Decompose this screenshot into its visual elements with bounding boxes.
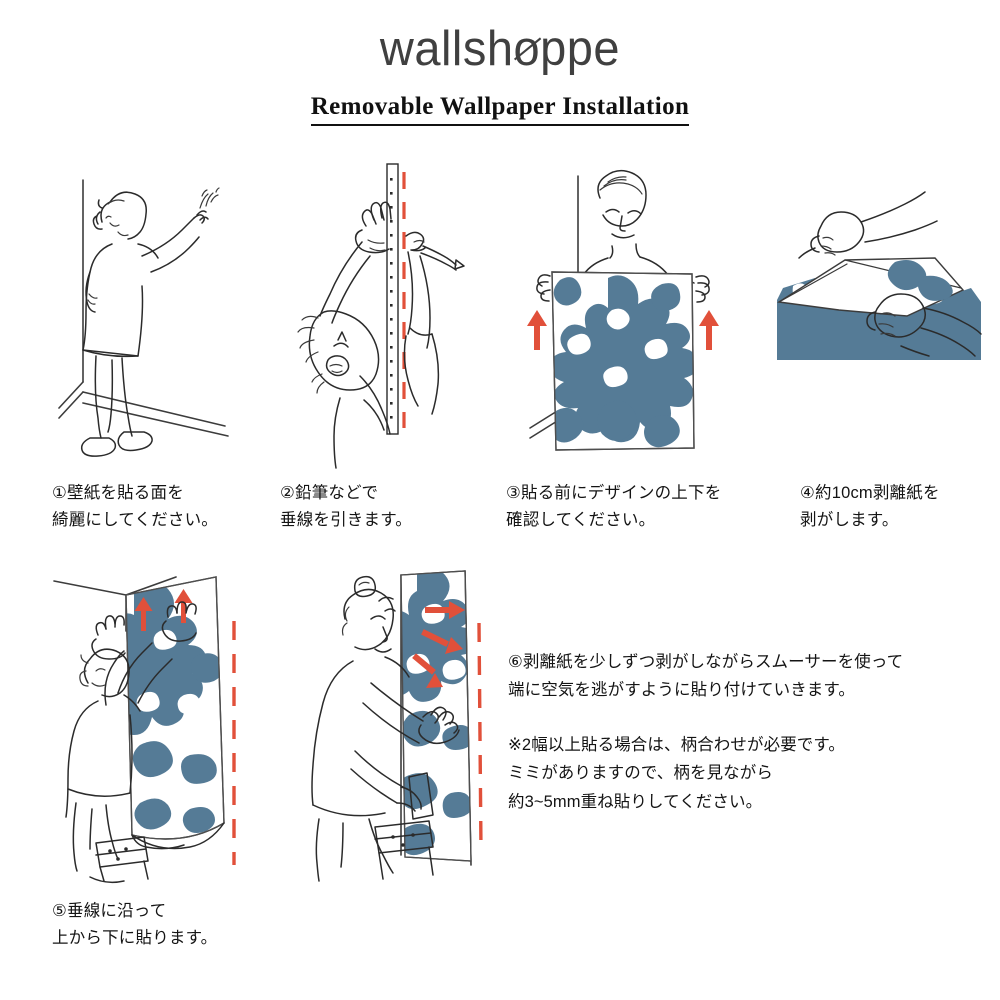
direction-arrow-up-left	[527, 310, 547, 350]
step-1-caption: ①壁紙を貼る面を 綺麗にしてください。	[52, 480, 272, 533]
person-holding-wallpaper-icon	[500, 160, 735, 475]
step-4-caption: ④約10cm剥離紙を 剥がします。	[800, 480, 1000, 533]
brand-slashed-o-icon: o	[514, 23, 541, 72]
brand-text-before: wallsh	[380, 20, 514, 76]
step-6-illustration	[293, 565, 498, 885]
direction-arrow-up-right	[699, 310, 719, 350]
step-2-illustration	[278, 160, 478, 475]
brand-header: wallshoppe	[0, 0, 1000, 71]
person-drawing-plumb-line-icon	[278, 160, 478, 475]
step-3-illustration	[500, 160, 735, 475]
page-title-row: Removable Wallpaper Installation	[0, 93, 1000, 126]
wallpaper-pattern	[548, 275, 698, 447]
step-6-caption: ⑥剥離紙を少しずつ剥がしながらスムーサーを使って 端に空気を逃がすように貼り付け…	[508, 648, 978, 705]
person-on-stool-applying-wallpaper-icon	[48, 565, 278, 885]
step-6-text-block: ⑥剥離紙を少しずつ剥がしながらスムーサーを使って 端に空気を逃がすように貼り付け…	[508, 648, 978, 816]
step-5-caption: ⑤垂線に沿って 上から下に貼ります。	[52, 898, 312, 951]
person-wiping-wall-icon	[50, 160, 270, 475]
step-3-caption: ③貼る前にデザインの上下を 確認してください。	[506, 480, 796, 533]
person-smoothing-wallpaper-icon	[293, 565, 498, 885]
hands-peeling-release-paper-icon	[775, 160, 1000, 475]
step-2-caption: ②鉛筆などで 垂線を引きます。	[280, 480, 490, 533]
step-5-illustration	[48, 565, 278, 885]
plumb-line-dashed	[479, 623, 481, 851]
brand-text-after: ppe	[540, 20, 620, 76]
steps-row-one	[0, 160, 1000, 475]
wallshoppe-logo: wallshoppe	[380, 23, 620, 72]
step-1-illustration	[50, 160, 270, 475]
step-4-illustration	[775, 160, 1000, 475]
page-title: Removable Wallpaper Installation	[311, 93, 690, 126]
pattern-matching-note: ※2幅以上貼る場合は、柄合わせが必要です。 ミミがありますので、柄を見ながら 約…	[508, 731, 978, 816]
